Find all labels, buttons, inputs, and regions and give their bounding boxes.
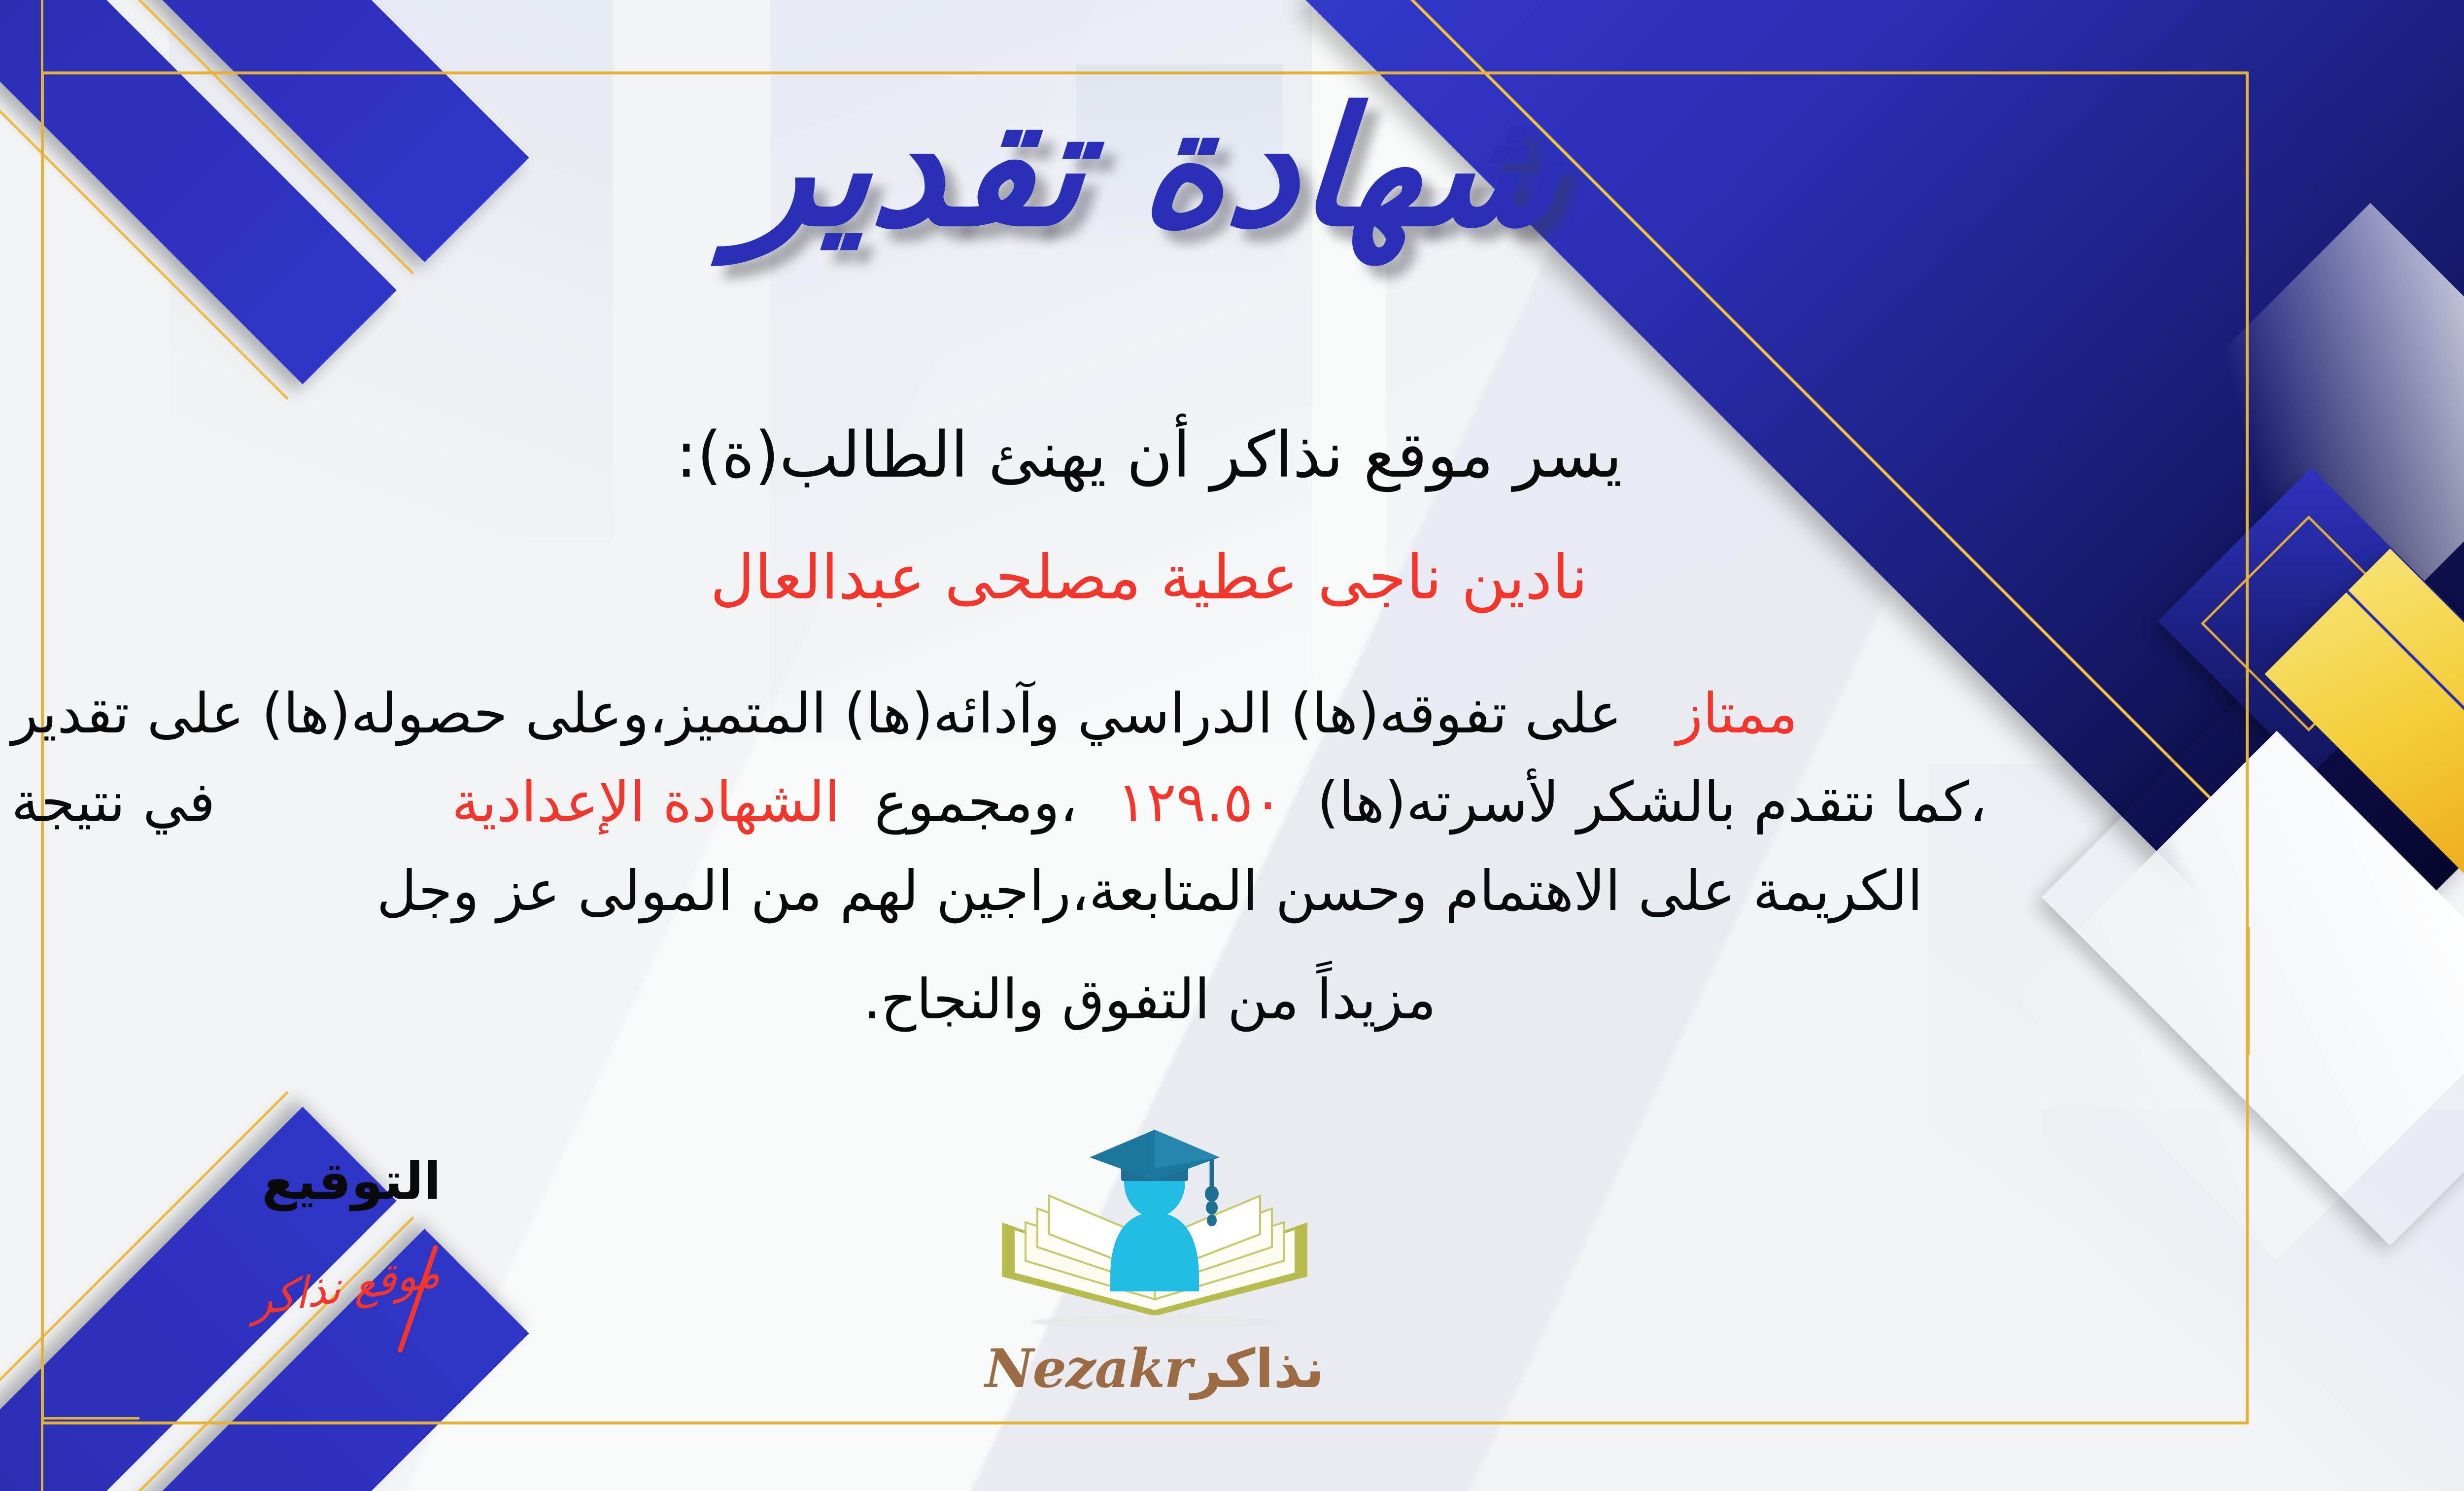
certificate-canvas: شهادة تقدير يسر موقع نذاكر أن يهنئ الطال… bbox=[0, 0, 2464, 1491]
brand-name-ar: نذاكر bbox=[1191, 1338, 1324, 1400]
signature-label: التوقيع bbox=[248, 1151, 455, 1211]
paragraph-segment: ،ومجموع bbox=[875, 775, 1078, 830]
student-name: نادين ناجى عطية مصلحى عبدالعال bbox=[0, 547, 2464, 608]
body-paragraph-line-4: مزيداً من التفوق والنجاح. bbox=[11, 972, 2288, 1027]
certificate-title: شهادة تقدير bbox=[0, 86, 2464, 249]
greeting-line: يسر موقع نذاكر أن يهنئ الطالب(ة): bbox=[0, 424, 2464, 487]
total-score-value: ١٢٩.٥٠ bbox=[1117, 775, 1282, 830]
brand-logo: نذاكرNezakr bbox=[967, 1129, 1342, 1405]
paragraph-segment: على تفوقه(ها) الدراسي وآدائه(ها) المتميز… bbox=[11, 686, 1622, 741]
brand-wordmark: نذاكرNezakr bbox=[967, 1338, 1342, 1400]
body-paragraph-line-3: الكريمة على الاهتمام وحسن المتابعة،راجين… bbox=[11, 864, 2288, 919]
paragraph-segment: في نتيجة bbox=[11, 775, 215, 830]
certificate-content: شهادة تقدير يسر موقع نذاكر أن يهنئ الطال… bbox=[0, 0, 2464, 1491]
paragraph-segment: ،كما نتقدم بالشكر لأسرته(ها) bbox=[1317, 775, 1987, 830]
exam-stage-value: الشهادة الإعدادية bbox=[452, 775, 840, 830]
signature-mark: موقع نذاكر bbox=[210, 1240, 483, 1333]
body-paragraph-line-2: في نتيجة الشهادة الإعدادية ،ومجموع ١٢٩.٥… bbox=[11, 775, 2288, 830]
body-paragraph-line-1: على تفوقه(ها) الدراسي وآدائه(ها) المتميز… bbox=[11, 686, 2288, 741]
grade-value: ممتاز bbox=[1676, 686, 1798, 741]
brand-name-en: Nezakr bbox=[985, 1338, 1191, 1400]
